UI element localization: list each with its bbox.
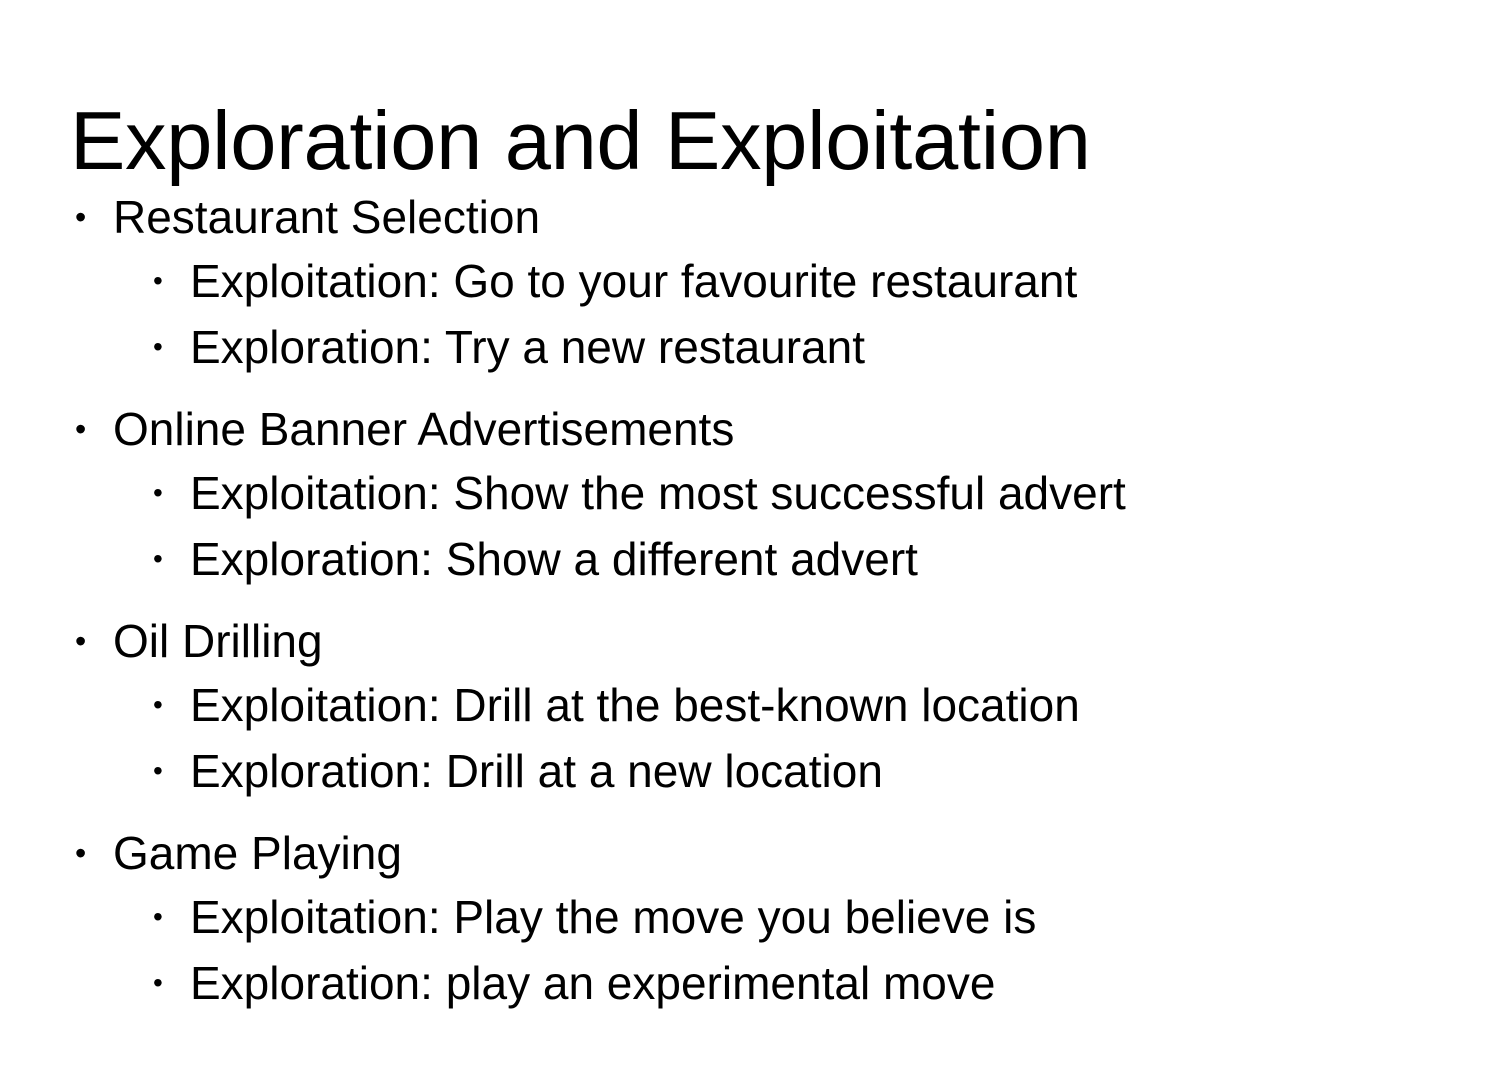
bullet-level2-label: Exploitation: Show the most successful a…	[190, 460, 1126, 526]
bullet-level2-item: • Exploitation: Drill at the best-known …	[0, 672, 1500, 738]
bullet-level2-item: • Exploration: Drill at a new location	[0, 738, 1500, 804]
bullet-group: • Online Banner Advertisements • Exploit…	[0, 398, 1500, 592]
bullet-level2-item: • Exploration: play an experimental move	[0, 950, 1500, 1016]
slide-body: • Restaurant Selection • Exploitation: G…	[0, 186, 1500, 1016]
bullet-level2-label: Exploration: Drill at a new location	[190, 738, 883, 804]
bullet-level2-label: Exploitation: Drill at the best-known lo…	[190, 672, 1080, 738]
bullet-level2-item: • Exploitation: Show the most successful…	[0, 460, 1500, 526]
bullet-dot-icon: •	[75, 822, 91, 884]
bullet-dot-icon: •	[75, 186, 91, 248]
bullet-dot-icon: •	[153, 248, 169, 314]
bullet-dot-icon: •	[75, 398, 91, 460]
bullet-level2-item: • Exploration: Show a different advert	[0, 526, 1500, 592]
bullet-group: • Game Playing • Exploitation: Play the …	[0, 822, 1500, 1016]
bullet-level2-label: Exploitation: Go to your favourite resta…	[190, 248, 1077, 314]
bullet-level2-label: Exploitation: Play the move you believe …	[190, 884, 1036, 950]
bullet-level1-item: • Game Playing	[0, 822, 1500, 884]
bullet-dot-icon: •	[153, 526, 169, 592]
bullet-level2-label: Exploration: Try a new restaurant	[190, 314, 865, 380]
bullet-level1-item: • Restaurant Selection	[0, 186, 1500, 248]
bullet-level2-item: • Exploitation: Go to your favourite res…	[0, 248, 1500, 314]
bullet-level1-label: Oil Drilling	[113, 610, 323, 672]
bullet-level2-item: • Exploitation: Play the move you believ…	[0, 884, 1500, 950]
bullet-dot-icon: •	[75, 610, 91, 672]
bullet-dot-icon: •	[153, 950, 169, 1016]
bullet-group: • Oil Drilling • Exploitation: Drill at …	[0, 610, 1500, 804]
bullet-level2-item: • Exploration: Try a new restaurant	[0, 314, 1500, 380]
bullet-dot-icon: •	[153, 460, 169, 526]
bullet-level2-label: Exploration: play an experimental move	[190, 950, 995, 1016]
bullet-level1-label: Restaurant Selection	[113, 186, 540, 248]
bullet-level1-item: • Oil Drilling	[0, 610, 1500, 672]
bullet-level2-label: Exploration: Show a different advert	[190, 526, 918, 592]
page-title: Exploration and Exploitation	[70, 96, 1430, 186]
bullet-group: • Restaurant Selection • Exploitation: G…	[0, 186, 1500, 380]
bullet-dot-icon: •	[153, 738, 169, 804]
bullet-level1-item: • Online Banner Advertisements	[0, 398, 1500, 460]
bullet-dot-icon: •	[153, 672, 169, 738]
slide: Exploration and Exploitation • Restauran…	[0, 0, 1500, 1080]
bullet-level1-label: Online Banner Advertisements	[113, 398, 734, 460]
bullet-level1-label: Game Playing	[113, 822, 402, 884]
bullet-dot-icon: •	[153, 314, 169, 380]
bullet-dot-icon: •	[153, 884, 169, 950]
